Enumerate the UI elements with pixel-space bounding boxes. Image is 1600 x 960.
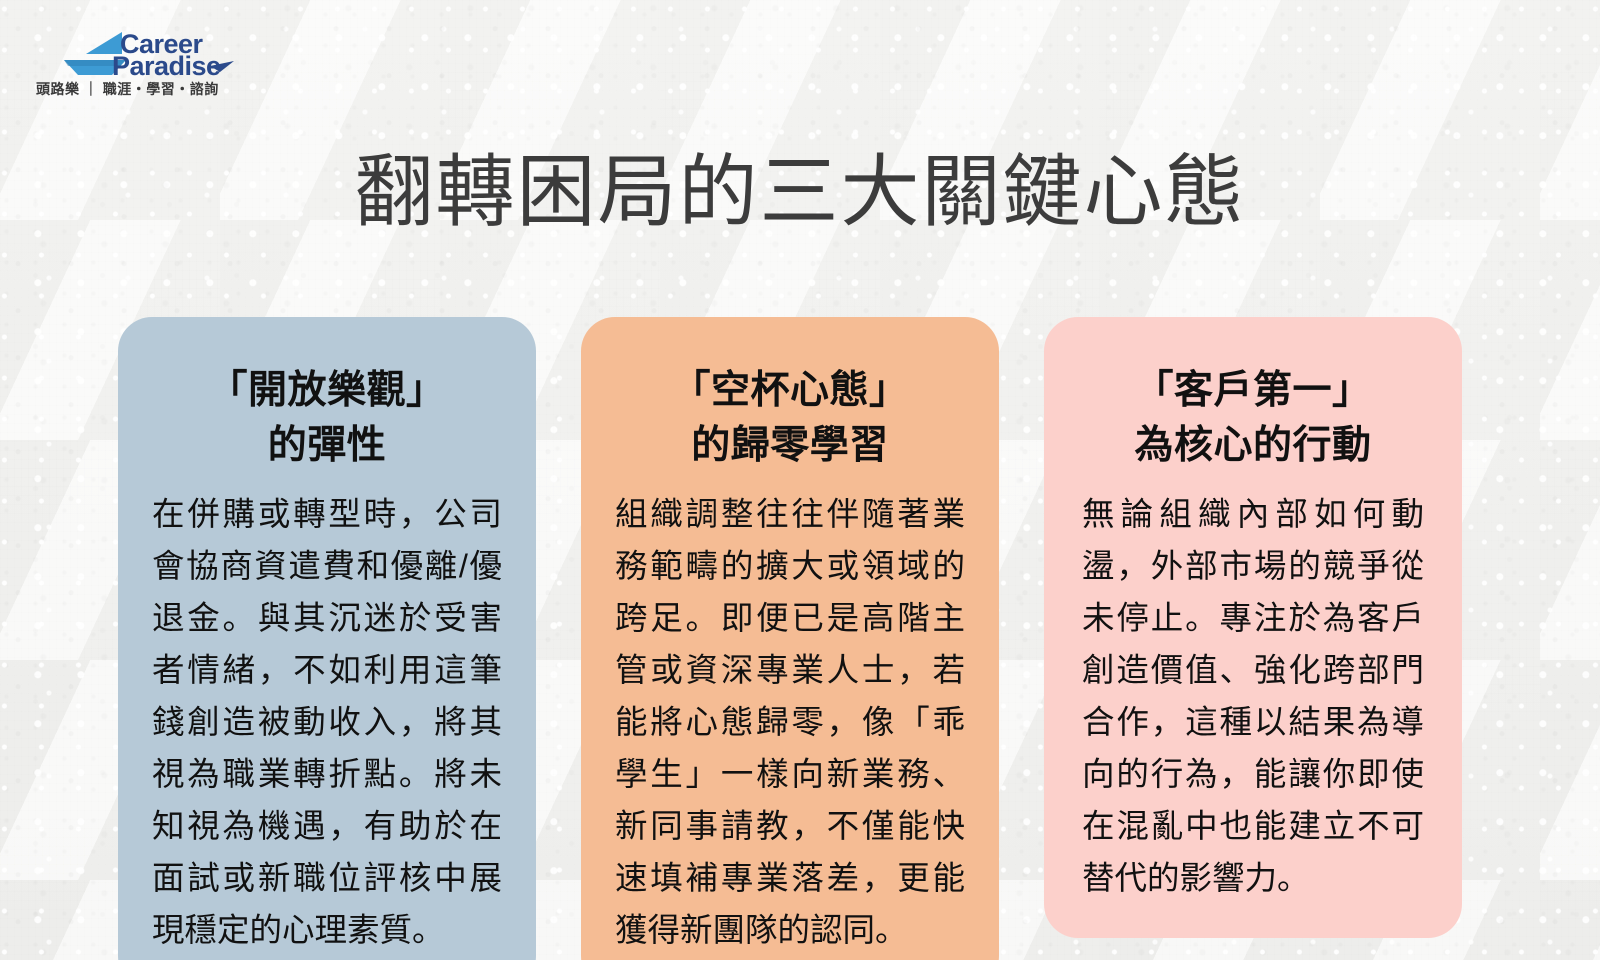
sailboat-logo-icon: Career Paradise 頭路樂 ｜ 職涯・學習・諮詢 xyxy=(34,20,248,98)
page-title: 翻轉困局的三大關鍵心態 xyxy=(0,148,1600,236)
card-empty-cup[interactable]: 「空杯心態」 的歸零學習 組織調整往往伴隨著業務範疇的擴大或領域的跨足。即便已是… xyxy=(581,317,999,960)
card-heading: 「開放樂觀」 的彈性 xyxy=(148,363,506,474)
card-customer-first[interactable]: 「客戶第一」 為核心的行動 無論組織內部如何動盪，外部市場的競爭從未停止。專注於… xyxy=(1044,317,1462,938)
mindset-cards-row: 「開放樂觀」 的彈性 在併購或轉型時，公司會協商資遣費和優離/優退金。與其沉迷於… xyxy=(118,317,1462,960)
card-body-text: 組織調整往往伴隨著業務範疇的擴大或領域的跨足。即便已是高階主管或資深專業人士，若… xyxy=(611,488,969,956)
brand-tagline: 頭路樂 ｜ 職涯・學習・諮詢 xyxy=(36,81,219,97)
brand-logo[interactable]: Career Paradise 頭路樂 ｜ 職涯・學習・諮詢 xyxy=(34,20,248,98)
card-heading: 「客戶第一」 為核心的行動 xyxy=(1074,363,1432,474)
svg-text:Paradise: Paradise xyxy=(112,51,221,81)
card-open-optimism[interactable]: 「開放樂觀」 的彈性 在併購或轉型時，公司會協商資遣費和優離/優退金。與其沉迷於… xyxy=(118,317,536,960)
card-heading: 「空杯心態」 的歸零學習 xyxy=(611,363,969,474)
card-body-text: 在併購或轉型時，公司會協商資遣費和優離/優退金。與其沉迷於受害者情緒，不如利用這… xyxy=(148,488,506,956)
card-body-text: 無論組織內部如何動盪，外部市場的競爭從未停止。專注於為客戶創造價值、強化跨部門合… xyxy=(1074,488,1432,904)
